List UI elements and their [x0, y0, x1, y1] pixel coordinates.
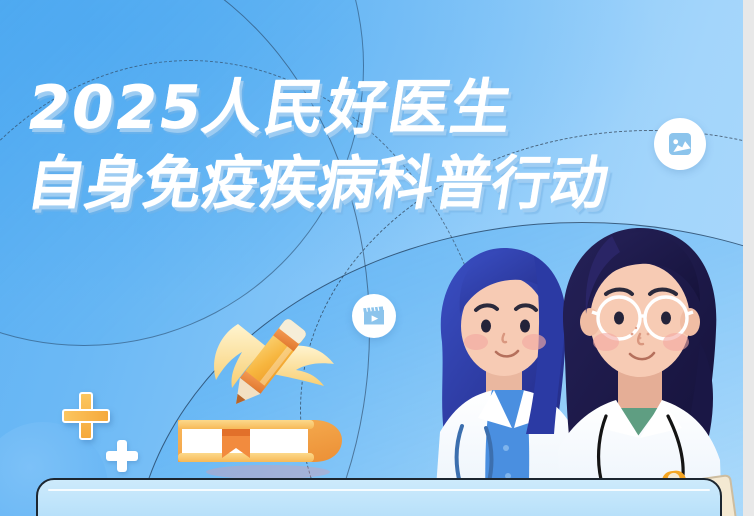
plus-icon-white	[106, 440, 138, 472]
campaign-banner: 2025人民好医生 自身免疫疾病科普行动	[0, 0, 754, 516]
bottom-panel	[36, 478, 722, 516]
doctor-right	[558, 228, 739, 516]
book-illustration	[172, 410, 352, 478]
two-female-doctors-illustration	[400, 222, 754, 516]
book-icon	[172, 410, 352, 478]
video-clapperboard-icon	[360, 302, 388, 330]
plus-icon-orange	[62, 392, 110, 440]
video-badge[interactable]	[352, 294, 396, 338]
image-photo-icon	[661, 125, 700, 164]
doctors-illustration	[400, 222, 754, 516]
doctor-left	[434, 248, 576, 516]
right-edge-strip	[743, 0, 754, 516]
